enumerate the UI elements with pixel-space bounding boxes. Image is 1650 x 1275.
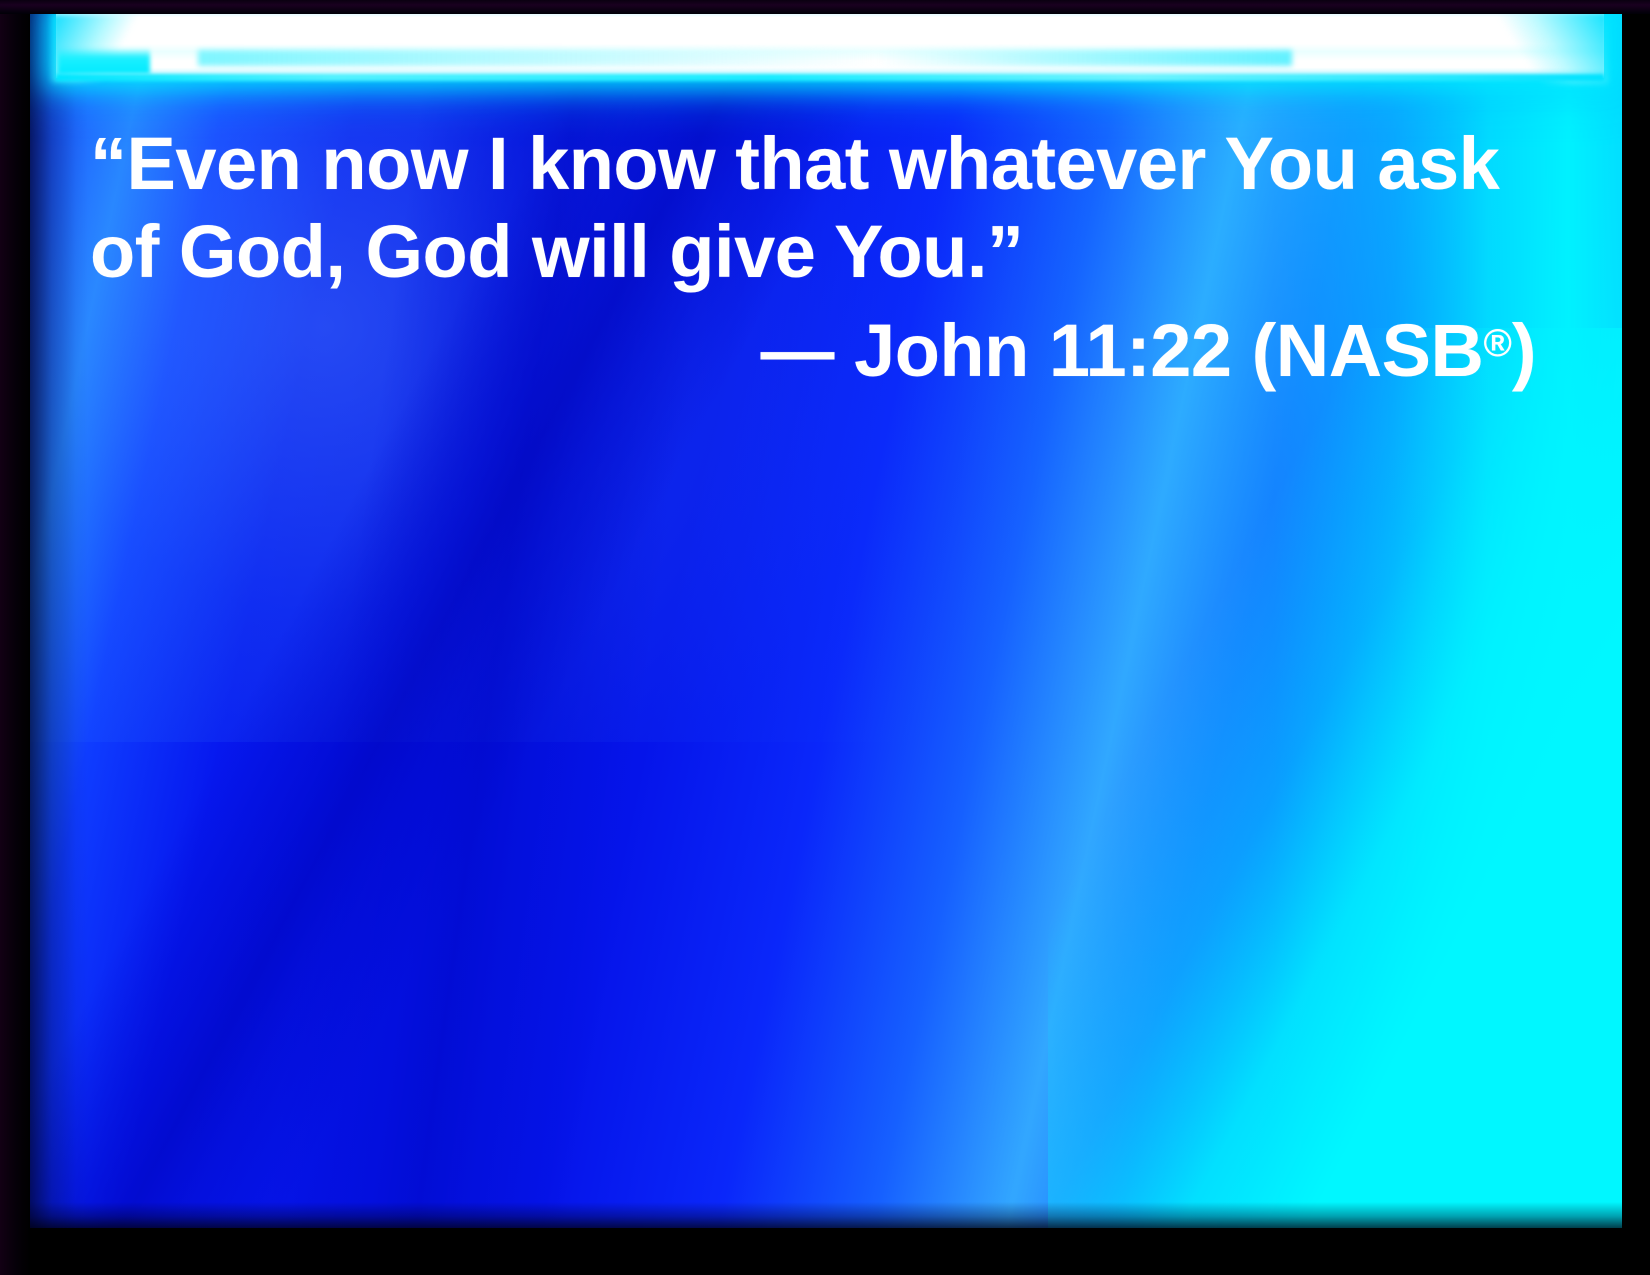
background-left-vignette (28, 12, 88, 1228)
background-gradient-base (28, 12, 1622, 1228)
background-bottom-vignette (28, 1202, 1622, 1228)
header-white-bar (56, 12, 1604, 78)
background-cyan-fan (1048, 328, 1622, 1228)
attribution-dash: — (761, 309, 835, 392)
header-glow-band (28, 12, 1622, 84)
verse-line-1: “Even now I know that whatever You ask (90, 120, 1540, 208)
verse-attribution: — John 11:22 (NASB®) (90, 296, 1540, 399)
background-dark-ribbon (28, 12, 1622, 1228)
header-cyan-wedge-left (52, 14, 172, 82)
registered-trademark-icon: ® (1483, 322, 1511, 365)
verse-text-block: “Even now I know that whatever You ask o… (90, 120, 1540, 399)
attribution-reference: John 11:22 (854, 309, 1232, 392)
attribution-translation-close: ) (1512, 309, 1536, 392)
background-dark-ribbon-secondary (28, 12, 1622, 1228)
attribution-translation-open: (NASB (1252, 309, 1484, 392)
frame-left-tint (0, 0, 30, 1275)
verse-line-2: of God, God will give You.” (90, 208, 1540, 296)
slide-frame: “Even now I know that whatever You ask o… (0, 0, 1650, 1275)
header-cyan-streak-left (58, 48, 150, 74)
slide-background: “Even now I know that whatever You ask o… (28, 12, 1622, 1228)
background-bloom-glow (28, 12, 1016, 742)
header-cyan-underline (56, 74, 1604, 81)
background-cyan-column (953, 12, 1622, 1228)
header-cyan-wedge-right (1458, 12, 1608, 84)
header-cyan-streak-middle (198, 50, 1292, 66)
